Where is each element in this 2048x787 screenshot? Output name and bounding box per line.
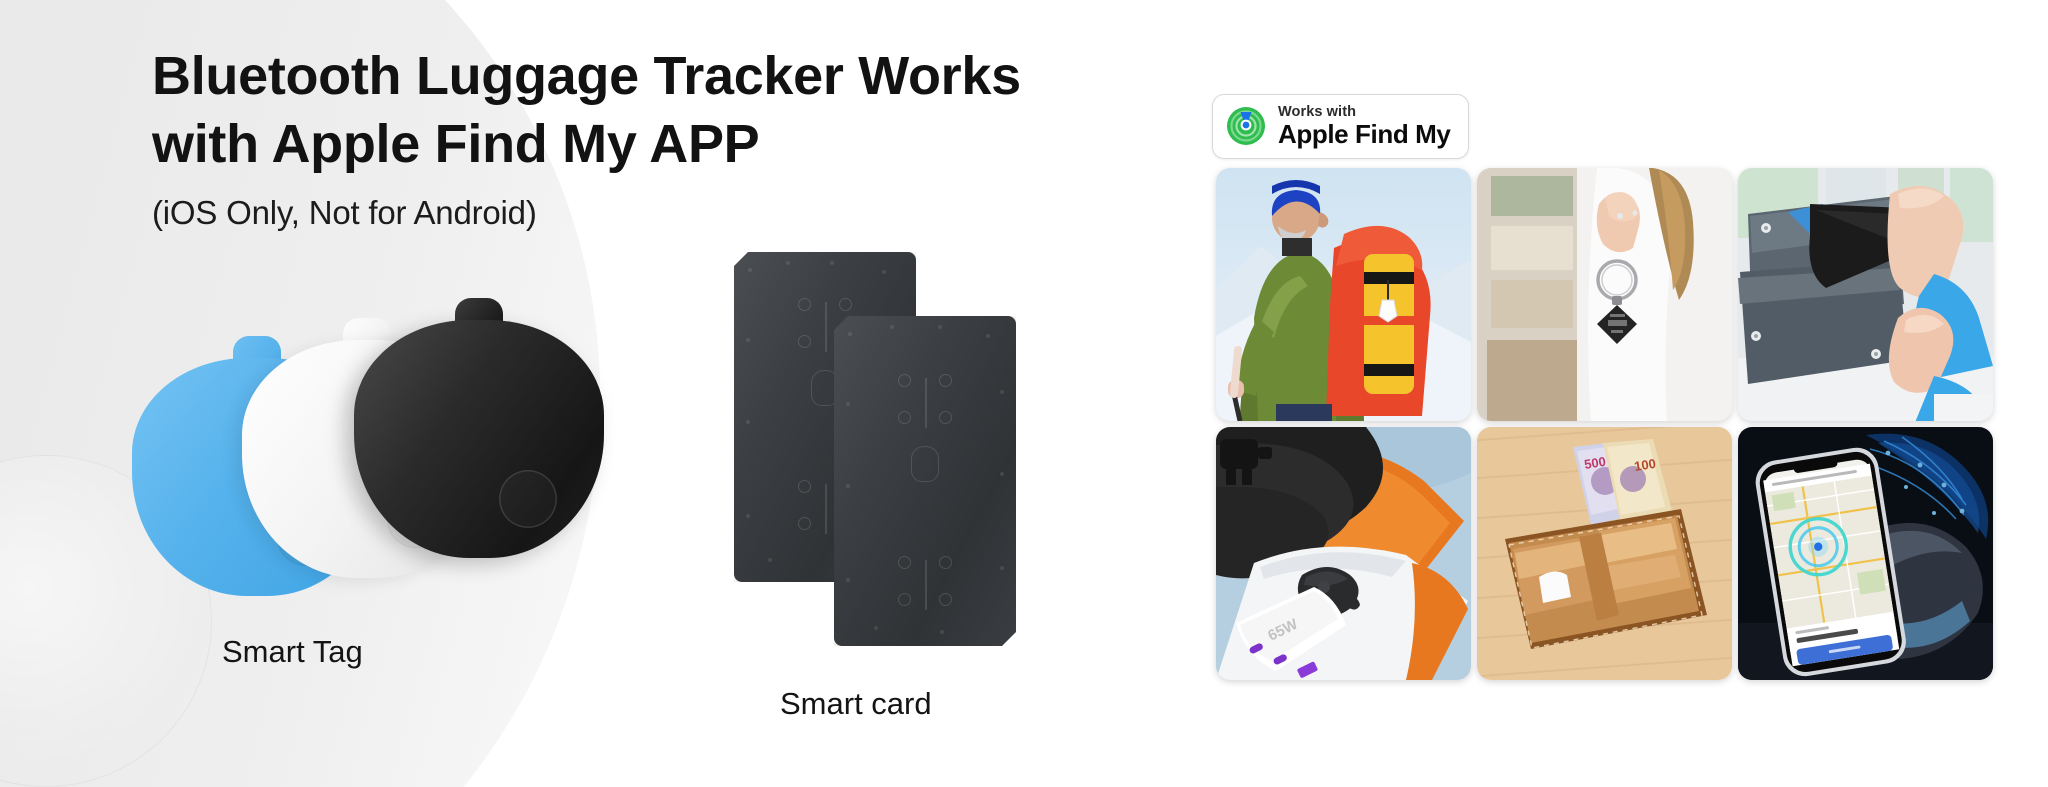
works-with-apple-find-my-badge: Works with Apple Find My	[1212, 94, 1469, 159]
badge-text: Works with Apple Find My	[1278, 104, 1450, 149]
card-contacts-bottom	[894, 556, 956, 614]
photo-hiker-backpack	[1216, 168, 1471, 421]
product-banner: Bluetooth Luggage Tracker Works with App…	[0, 0, 2048, 787]
smart-card-group	[726, 252, 1056, 682]
badge-works-with-label: Works with	[1278, 104, 1356, 120]
photo-keyring-tag	[1477, 168, 1732, 421]
photo-backpack-charger: 65W	[1216, 427, 1471, 680]
smart-tag-group	[132, 288, 602, 618]
smart-card-label: Smart card	[780, 686, 932, 722]
power-button-icon	[911, 446, 939, 482]
smart-tag-label: Smart Tag	[222, 634, 363, 670]
subheadline: (iOS Only, Not for Android)	[152, 194, 1032, 232]
headline-line-2: with Apple Find My APP	[152, 110, 1032, 178]
tag-body	[354, 320, 604, 558]
badge-apple-find-my-label: Apple Find My	[1278, 119, 1450, 149]
photo-wallet-card	[1738, 168, 1993, 421]
tag-button-icon	[499, 470, 557, 528]
card-contacts-top	[894, 374, 956, 432]
headline-line-1: Bluetooth Luggage Tracker Works	[152, 42, 1032, 110]
find-my-radar-icon	[1226, 106, 1266, 146]
headline-block: Bluetooth Luggage Tracker Works with App…	[152, 42, 1032, 232]
smart-tag-black	[354, 298, 604, 558]
smart-card-front	[834, 316, 1016, 646]
photo-phone-map	[1738, 427, 1993, 680]
lifestyle-photo-grid: 65W 500	[1216, 168, 1993, 680]
photo-leather-wallet: 500 100	[1477, 427, 1732, 680]
